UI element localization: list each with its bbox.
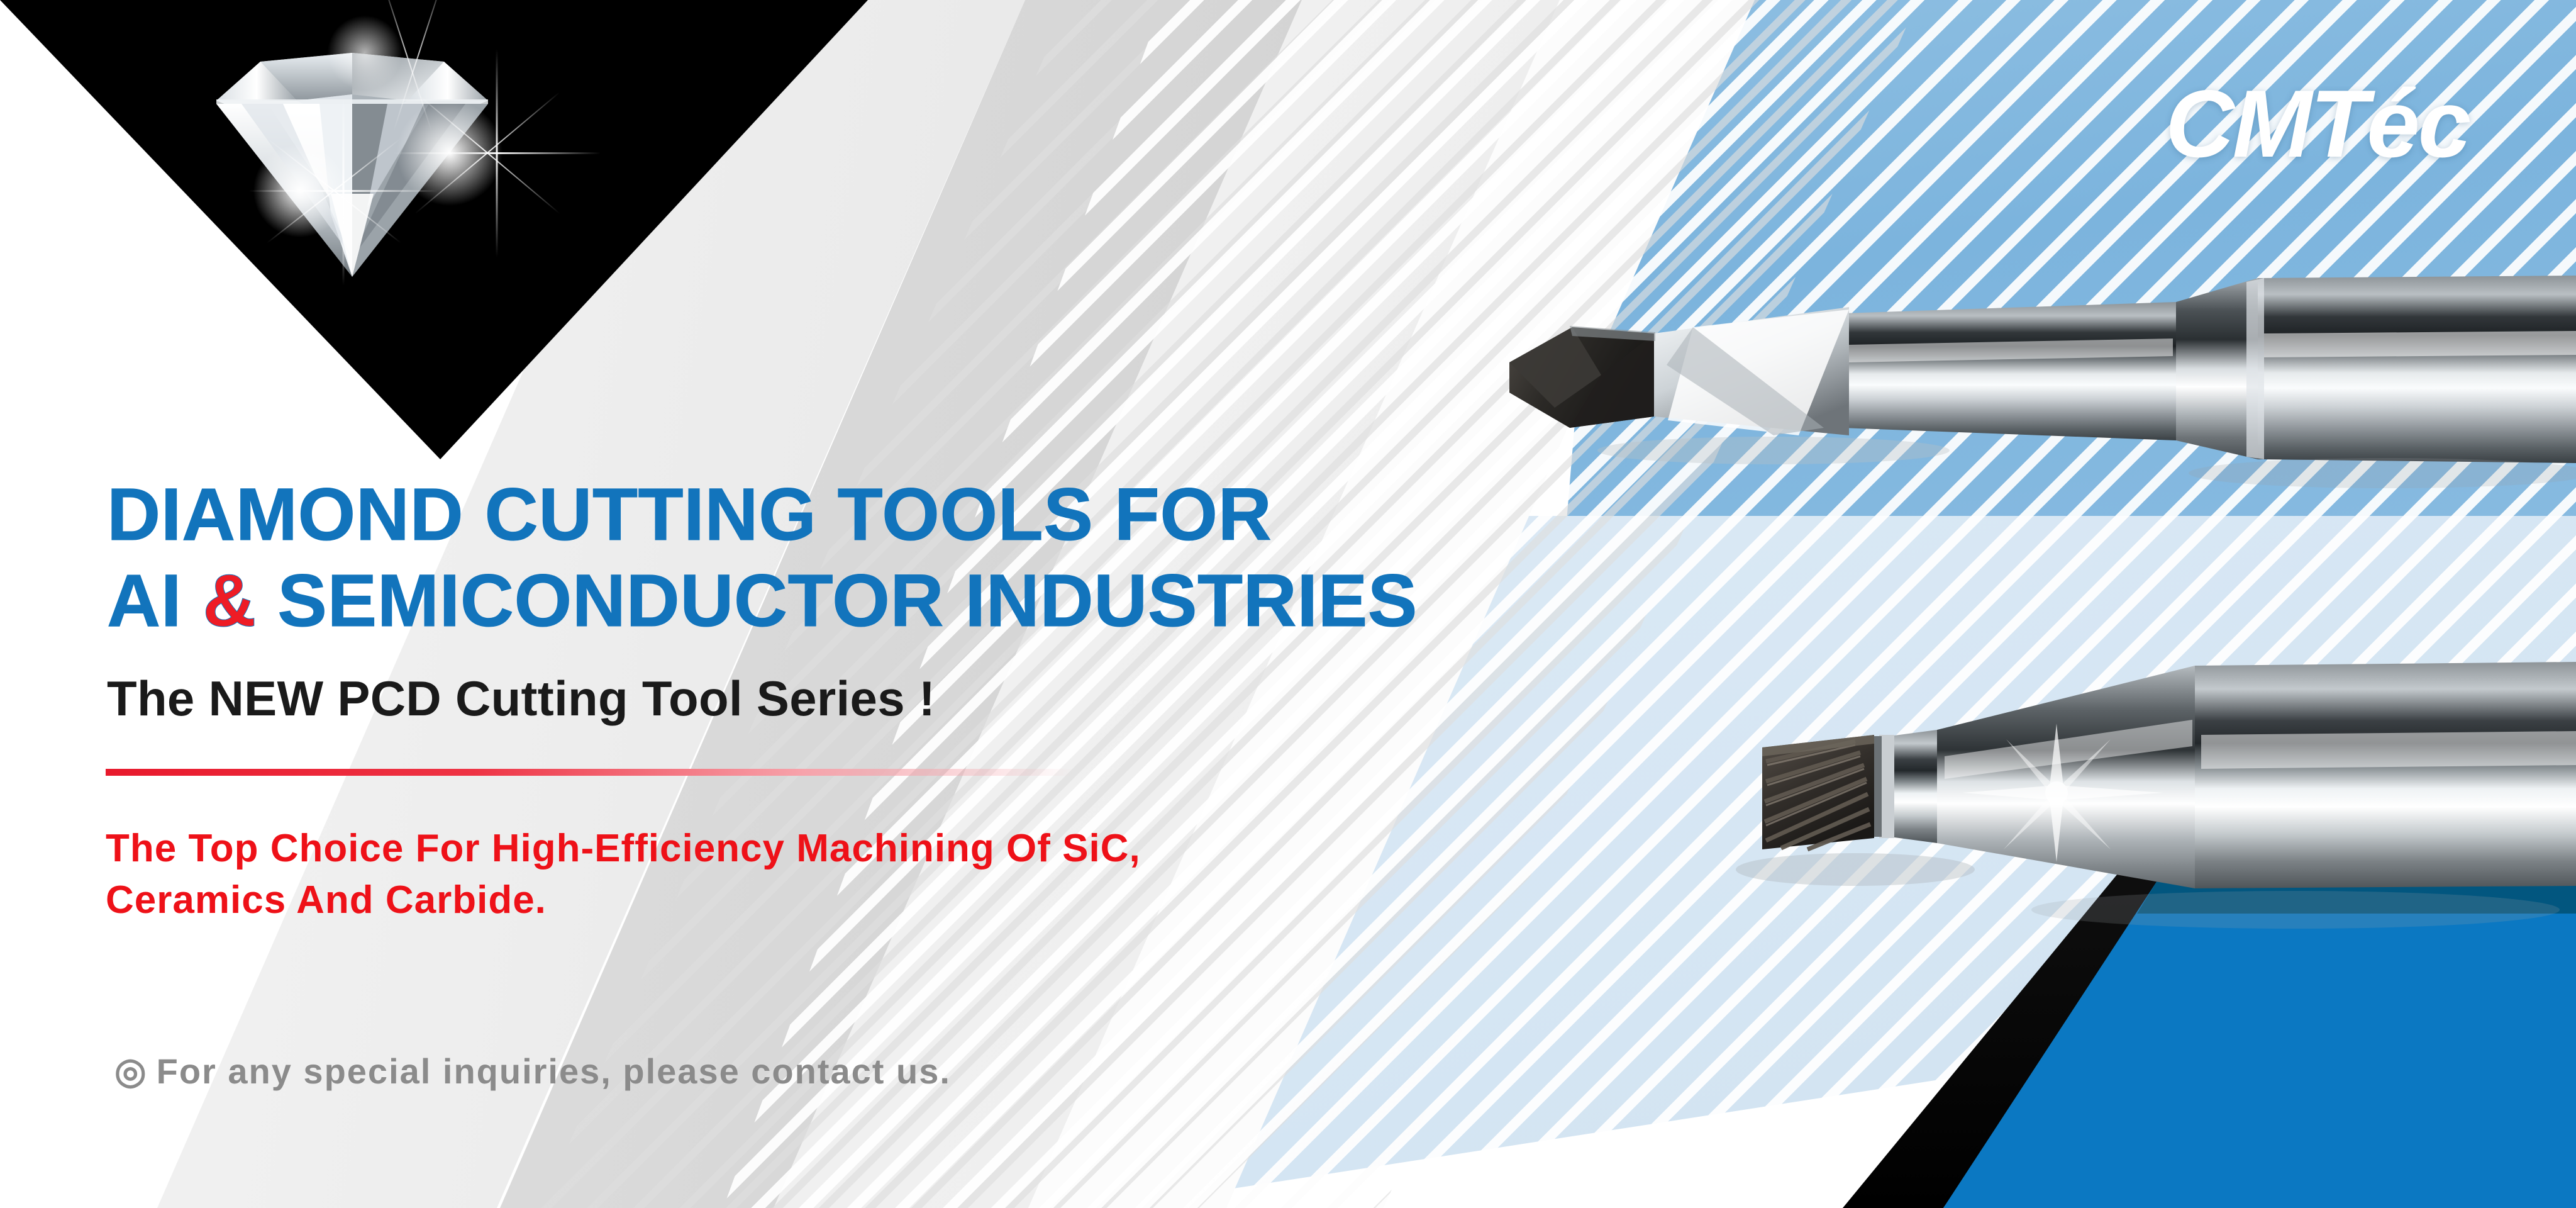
marketing-banner: DIAMOND CUTTING TOOLS FOR AI & SEMICONDU… bbox=[0, 0, 2576, 1208]
tagline-line-1: The Top Choice For High-Efficiency Machi… bbox=[106, 823, 1141, 875]
double-circle-icon: ◎ bbox=[114, 1051, 148, 1092]
pcd-drill-bit bbox=[1446, 239, 2576, 503]
headline-line-2: AI & SEMICONDUCTOR INDUSTRIES bbox=[107, 558, 1418, 644]
tagline: The Top Choice For High-Efficiency Machi… bbox=[106, 823, 1141, 927]
red-divider-rule bbox=[106, 769, 1074, 776]
contact-note-text: For any special inquiries, please contac… bbox=[157, 1051, 951, 1091]
sparkle-ray bbox=[343, 97, 345, 286]
subheadline: The NEW PCD Cutting Tool Series ! bbox=[107, 670, 935, 727]
page-title: DIAMOND CUTTING TOOLS FOR AI & SEMICONDU… bbox=[107, 472, 1418, 644]
diamond-icon bbox=[208, 25, 497, 289]
sparkle-ray bbox=[496, 50, 498, 257]
ampersand-accent: & bbox=[203, 559, 257, 642]
pcd-end-mill bbox=[1667, 635, 2576, 1026]
headline-line2-prefix: AI bbox=[107, 559, 203, 642]
drill-bit-illustration bbox=[1446, 239, 2576, 503]
brand-logo: CMTéc bbox=[2165, 69, 2469, 179]
contact-note: ◎For any special inquiries, please conta… bbox=[114, 1049, 951, 1092]
headline-line-1: DIAMOND CUTTING TOOLS FOR bbox=[107, 472, 1418, 558]
diamond-gem-graphic bbox=[208, 25, 497, 289]
end-mill-illustration bbox=[1667, 635, 2576, 1026]
headline-line2-suffix: SEMICONDUCTOR INDUSTRIES bbox=[257, 559, 1418, 642]
tagline-line-2: Ceramics And Carbide. bbox=[106, 875, 1141, 926]
